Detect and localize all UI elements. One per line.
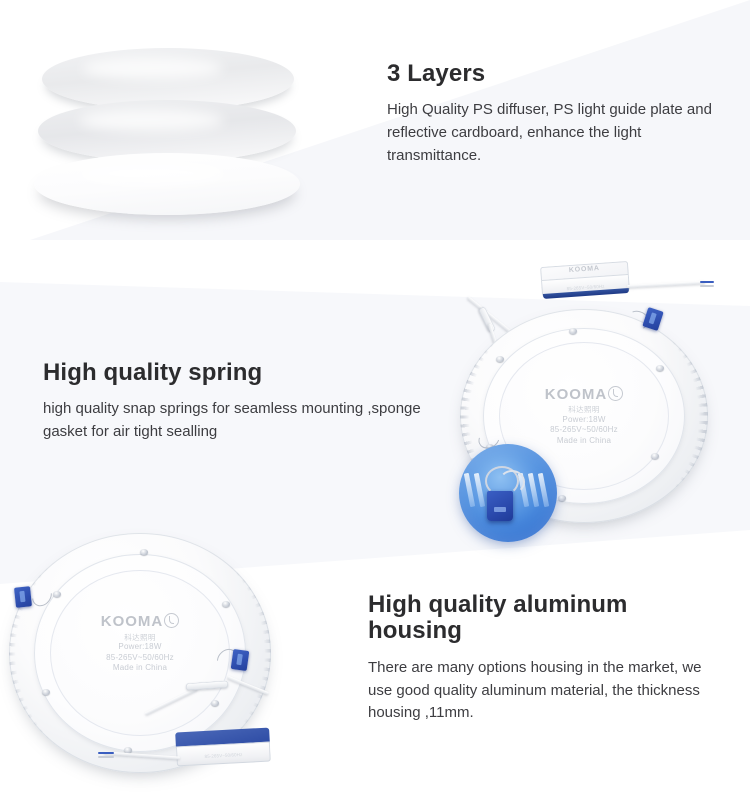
wire-tip-grey (98, 756, 114, 758)
reflective-cardboard-layer (34, 153, 300, 215)
magnified-spring-clip (487, 491, 513, 521)
panel-screw (140, 549, 148, 555)
panel-screw (558, 495, 566, 501)
disc-highlight (82, 57, 223, 81)
section-spring-text: High quality spring high quality snap sp… (43, 360, 443, 444)
section-heading: 3 Layers (387, 61, 717, 87)
section-body: There are many options housing in the ma… (368, 657, 718, 725)
spring-clip (231, 649, 250, 671)
section-heading: High quality aluminum housing (368, 592, 718, 645)
section-body: high quality snap springs for seamless m… (43, 398, 443, 444)
stacked-diffuser-layers (34, 48, 324, 233)
section-three-layers-text: 3 Layers High Quality PS diffuser, PS li… (387, 61, 717, 168)
section-housing-text: High quality aluminum housing There are … (368, 592, 718, 725)
section-heading: High quality spring (43, 360, 443, 386)
spring-zoom-callout (459, 444, 557, 542)
spring-clip (642, 307, 663, 331)
panel-screw (124, 747, 132, 753)
magnified-fin (528, 473, 539, 507)
panel-center-face (50, 570, 230, 736)
panel-screw (569, 328, 577, 334)
panel-screw (496, 356, 504, 362)
wire-tip-blue (98, 752, 114, 754)
driver-spec-label: 85-265V~50/60Hz (176, 751, 270, 762)
spring-clip (14, 587, 32, 609)
disc-highlight (79, 109, 223, 133)
panel-screw (222, 601, 230, 607)
led-driver-box-upper: KOOMA 85-265V~50/60Hz (540, 261, 630, 297)
product-infographic-page: 3 Layers High Quality PS diffuser, PS li… (0, 0, 750, 797)
wire-tip-grey (700, 285, 714, 287)
section-body: High Quality PS diffuser, PS light guide… (387, 99, 717, 167)
magnified-fin (538, 473, 549, 507)
wire-tip-blue (700, 281, 714, 283)
led-driver-box-lower: 85-265V~50/60Hz (175, 728, 271, 767)
magnified-fin (474, 473, 485, 507)
panel-screw (53, 591, 61, 597)
panel-screw (211, 700, 219, 706)
magnified-fin (464, 473, 475, 507)
disc-highlight (77, 162, 226, 186)
